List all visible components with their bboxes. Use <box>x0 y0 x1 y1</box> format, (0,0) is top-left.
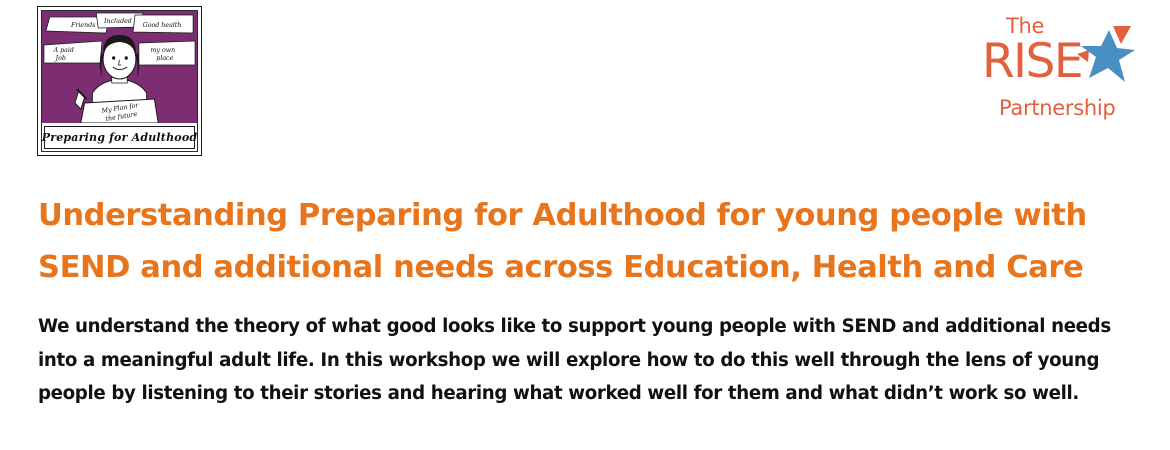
pfa-bubble-label-friends: Friends <box>70 21 96 29</box>
rise-logo-partnership-text: Partnership <box>999 98 1115 119</box>
pfa-caption-text: Preparing for Adulthood <box>42 131 198 144</box>
pfa-caption: Preparing for Adulthood <box>44 126 195 149</box>
pfa-illustration: Friends Included Good health A paid Job … <box>42 11 197 123</box>
rise-logo-rise-text: RISE <box>982 38 1082 85</box>
pfa-bubble-label-a-paid-job: A paid <box>53 46 74 54</box>
page-title: Understanding Preparing for Adulthood fo… <box>38 190 1128 294</box>
rise-partnership-logo: The RISE Partnership <box>982 16 1132 136</box>
pfa-bubble-label-place: place <box>156 54 173 62</box>
star-arrow-icon-svg <box>1077 24 1135 86</box>
pfa-bubble-label-good-health: Good health <box>143 21 182 29</box>
pfa-logo-frame: Friends Included Good health A paid Job … <box>41 10 198 152</box>
pfa-bubble-label-job: Job <box>54 54 66 62</box>
star-arrow-icon <box>1077 24 1135 86</box>
preparing-for-adulthood-logo: Friends Included Good health A paid Job … <box>37 6 202 156</box>
intro-paragraph: We understand the theory of what good lo… <box>38 310 1144 411</box>
pfa-bubble-label-included: Included <box>103 17 132 25</box>
pfa-bubble-label-my-own: my own <box>151 46 176 54</box>
pfa-illustration-svg: Friends Included Good health A paid Job … <box>42 11 197 123</box>
header-band: Friends Included Good health A paid Job … <box>0 0 1170 162</box>
